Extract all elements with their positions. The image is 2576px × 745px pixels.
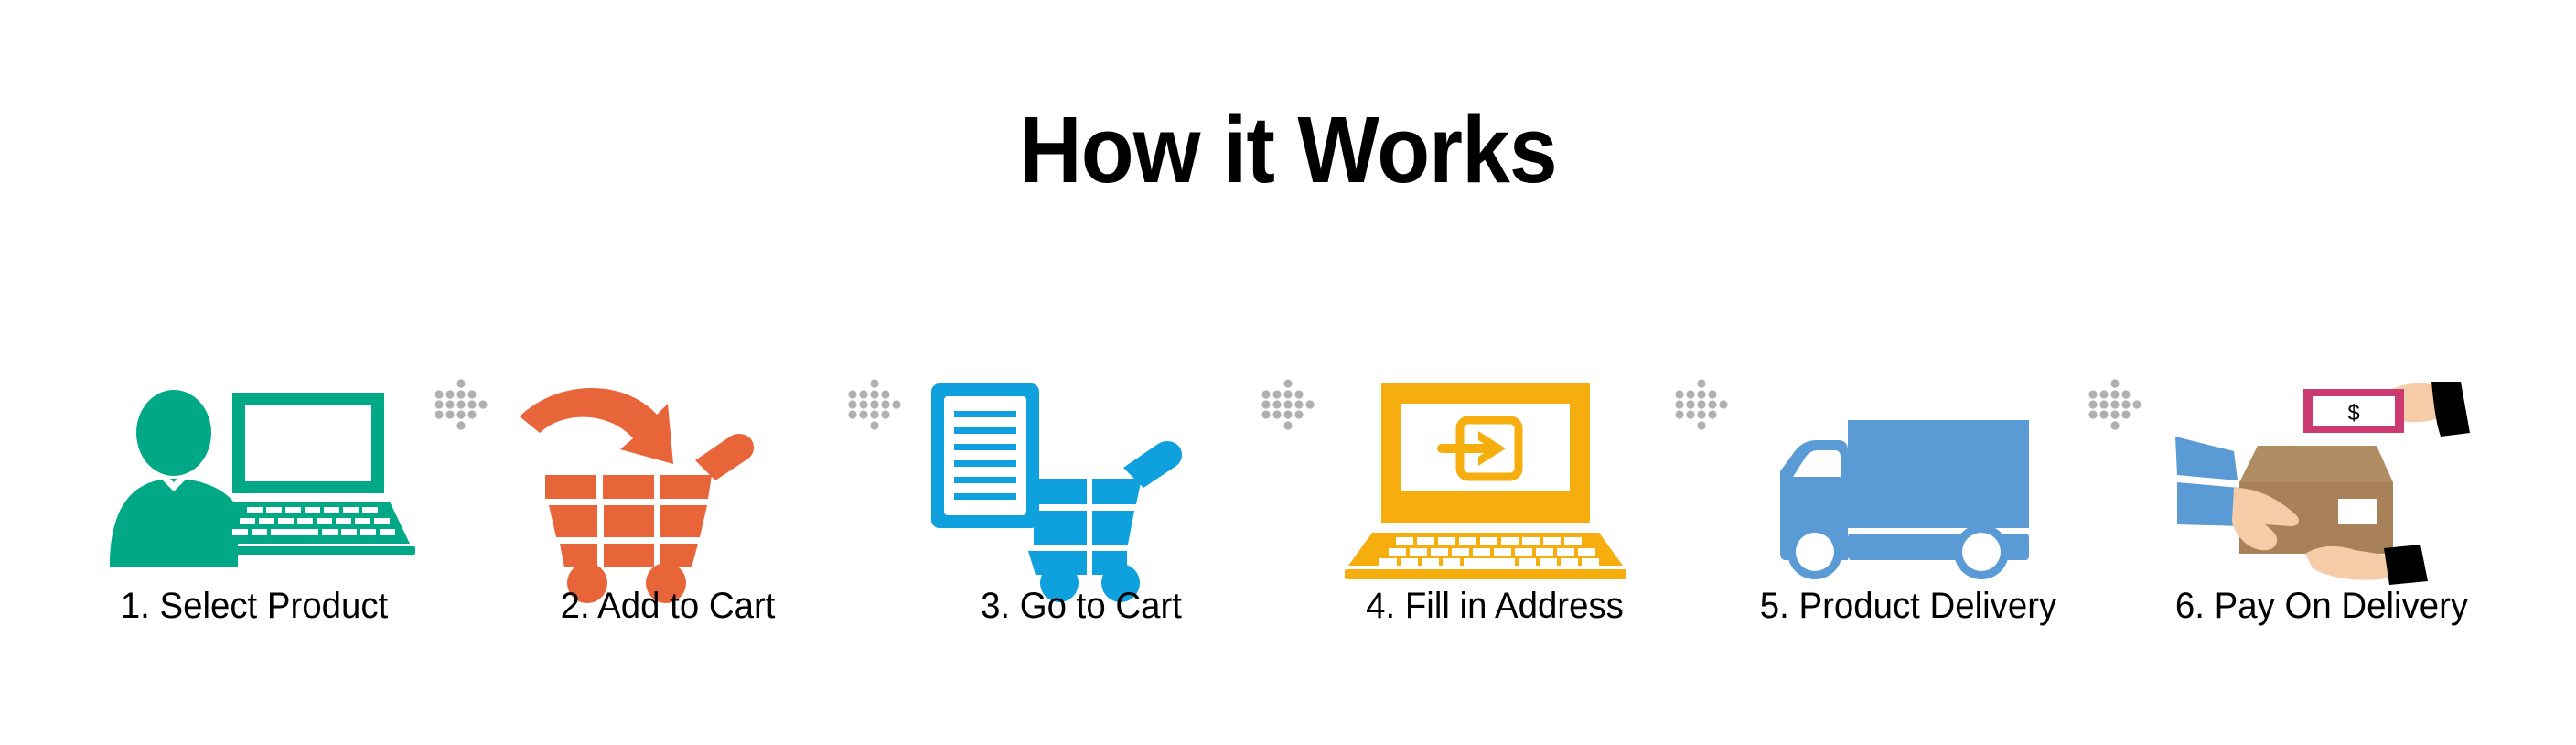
infographic-page: How it Works xyxy=(0,0,2576,745)
laptop-login-icon xyxy=(1339,380,1650,586)
dotted-arrow-right-icon-2 xyxy=(837,311,912,586)
document-with-cart-icon xyxy=(926,380,1237,586)
step-label-1: 1. Select Product xyxy=(91,584,416,628)
cart-with-arrow-icon xyxy=(512,380,823,586)
step-4-fill-in-address[interactable] xyxy=(1326,311,1664,586)
step-label-5: 5. Product Delivery xyxy=(1745,584,2070,628)
dotted-arrow-right-icon-5 xyxy=(2077,311,2152,586)
step-labels-row: 1. Select Product 2. Add to Cart 3. Go t… xyxy=(0,584,2576,648)
banknote-icon: $ xyxy=(2303,389,2404,433)
step-label-4: 4. Fill in Address xyxy=(1332,584,1657,628)
step-label-3: 3. Go to Cart xyxy=(918,584,1243,628)
steps-row: $ xyxy=(0,311,2576,586)
step-label-2: 2. Add to Cart xyxy=(505,584,830,628)
cash-on-delivery-icon: $ xyxy=(2166,380,2477,586)
person-with-laptop-icon xyxy=(99,380,410,586)
dotted-arrow-right-icon-4 xyxy=(1664,311,1739,586)
step-2-add-to-cart[interactable] xyxy=(499,311,837,586)
dotted-arrow-right-icon-1 xyxy=(424,311,499,586)
step-label-6: 6. Pay On Delivery xyxy=(2159,584,2484,628)
step-6-pay-on-delivery[interactable]: $ xyxy=(2152,311,2491,586)
step-1-select-product[interactable] xyxy=(85,311,424,586)
step-3-go-to-cart[interactable] xyxy=(912,311,1250,586)
step-5-product-delivery[interactable] xyxy=(1739,311,2077,586)
banknote-symbol: $ xyxy=(2347,401,2359,426)
page-title: How it Works xyxy=(103,103,2474,198)
delivery-truck-icon xyxy=(1753,380,2064,586)
dotted-arrow-right-icon-3 xyxy=(1250,311,1326,586)
